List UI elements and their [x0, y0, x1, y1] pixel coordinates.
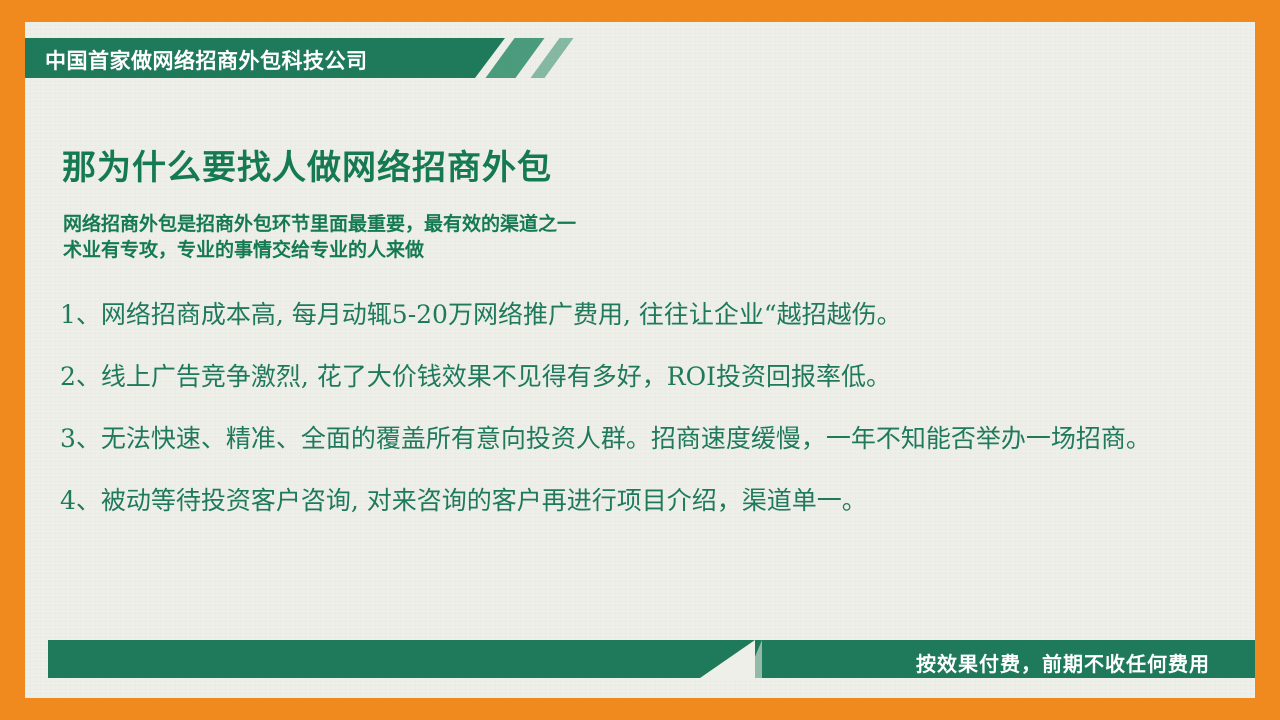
subheading-block: 网络招商外包是招商外包环节里面最重要，最有效的渠道之一 术业有专攻，专业的事情交…: [63, 212, 576, 264]
slide-root: 中国首家做网络招商外包科技公司 那为什么要找人做网络招商外包 网络招商外包是招商…: [0, 0, 1280, 720]
body-list: 1、网络招商成本高, 每月动辄5-20万网络推广费用, 往往让企业“越招越伤。 …: [60, 295, 1200, 543]
top-banner-label: 中国首家做网络招商外包科技公司: [45, 45, 368, 75]
list-item: 3、无法快速、精准、全面的覆盖所有意向投资人群。招商速度缓慢，一年不知能否举办一…: [60, 419, 1200, 459]
subheading-line-1: 网络招商外包是招商外包环节里面最重要，最有效的渠道之一: [63, 212, 576, 238]
list-item: 2、线上广告竞争激烈, 花了大价钱效果不见得有多好，ROI投资回报率低。: [60, 357, 1200, 397]
subheading-line-2: 术业有专攻，专业的事情交给专业的人来做: [63, 238, 576, 264]
list-item: 4、被动等待投资客户咨询, 对来咨询的客户再进行项目介绍，渠道单一。: [60, 481, 1200, 521]
list-item: 1、网络招商成本高, 每月动辄5-20万网络推广费用, 往往让企业“越招越伤。: [60, 295, 1200, 335]
page-title: 那为什么要找人做网络招商外包: [62, 140, 552, 189]
footer-notch-icon-2: [746, 640, 762, 678]
footer-text: 按效果付费，前期不收任何费用: [916, 648, 1210, 677]
